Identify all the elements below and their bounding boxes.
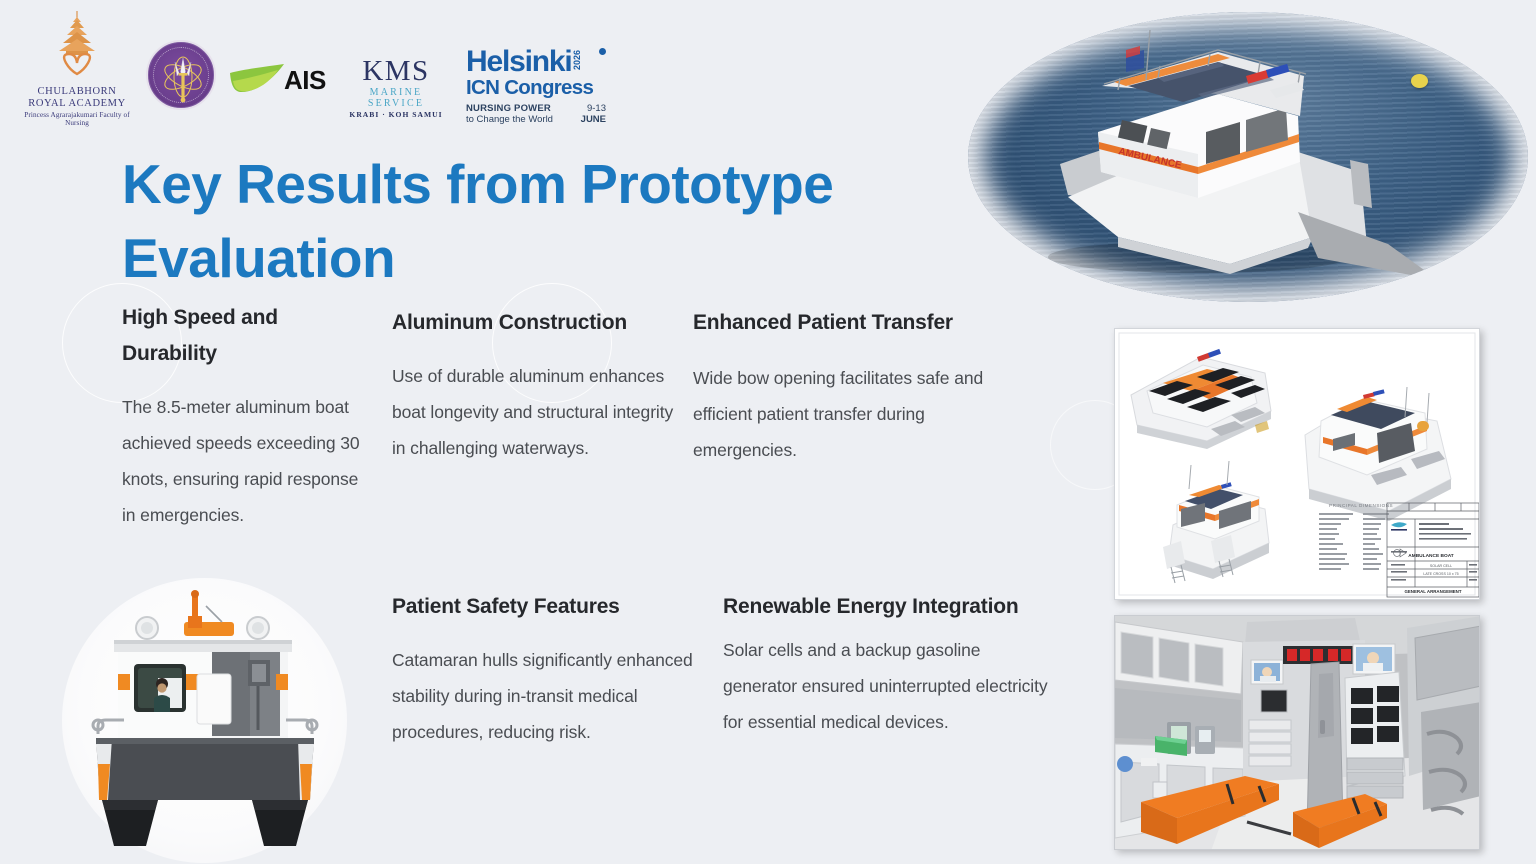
block-body: Catamaran hulls significantly enhanced s… bbox=[392, 643, 697, 751]
result-block-high-speed: High Speed and Durability The 8.5-meter … bbox=[122, 300, 372, 534]
icn-city: Helsinki bbox=[466, 48, 571, 76]
principal-dimensions-label: PRINCIPAL DIMENSIONS bbox=[1329, 503, 1393, 508]
icn-congress-name: ICN Congress bbox=[466, 77, 606, 99]
icn-month: JUNE bbox=[581, 114, 606, 125]
chulabhorn-line1: CHULABHORN bbox=[14, 86, 140, 98]
chulabhorn-line3: Princess Agrarajakumari Faculty of Nursi… bbox=[14, 111, 140, 127]
block-body: Wide bow opening facilitates safe and ef… bbox=[693, 361, 1023, 469]
block-body: Solar cells and a backup gasoline genera… bbox=[723, 633, 1053, 741]
chulabhorn-line2: ROYAL ACADEMY bbox=[14, 98, 140, 110]
chulabhorn-royal-academy-logo: CHULABHORN ROYAL ACADEMY Princess Agrara… bbox=[14, 8, 140, 127]
drawing-subtitle: GENERAL ARRANGEMENT bbox=[1404, 589, 1461, 594]
university-seal-logo bbox=[146, 40, 216, 110]
block-heading: Renewable Energy Integration bbox=[723, 589, 1053, 625]
ais-swoosh-icon bbox=[228, 60, 288, 100]
result-block-patient-transfer: Enhanced Patient Transfer Wide bow openi… bbox=[693, 305, 1023, 469]
ais-logo: AIS bbox=[228, 52, 336, 108]
block-body: The 8.5-meter aluminum boat achieved spe… bbox=[122, 390, 372, 534]
result-block-aluminum: Aluminum Construction Use of durable alu… bbox=[392, 305, 684, 467]
block-body: Use of durable aluminum enhances boat lo… bbox=[392, 359, 684, 467]
icn-tagline-2: to Change the World bbox=[466, 114, 553, 125]
hero-ambulance-boat-on-water: AMBULANCE bbox=[968, 12, 1528, 302]
kms-subtitle: MARINE SERVICE bbox=[348, 87, 444, 109]
interior-cabin-render bbox=[1114, 615, 1480, 850]
general-arrangement-drawing-sheet: PRINCIPAL DIMENSIONS bbox=[1114, 328, 1480, 600]
svg-text:LATE CROSS 10 x 75: LATE CROSS 10 x 75 bbox=[1423, 572, 1458, 576]
thai-crown-emblem-icon bbox=[14, 8, 140, 86]
logo-bar: CHULABHORN ROYAL ACADEMY Princess Agrara… bbox=[0, 0, 640, 140]
slide-canvas: CHULABHORN ROYAL ACADEMY Princess Agrara… bbox=[0, 0, 1536, 864]
kms-marine-service-logo: KMS MARINE SERVICE KRABI · KOH SAMUI bbox=[348, 56, 444, 119]
result-block-renewable-energy: Renewable Energy Integration Solar cells… bbox=[723, 589, 1053, 741]
block-heading: High Speed and Durability bbox=[122, 300, 372, 372]
slide-title: Key Results from Prototype Evaluation bbox=[122, 148, 942, 295]
svg-text:SOLAR CELL: SOLAR CELL bbox=[1430, 564, 1452, 568]
kms-locations: KRABI · KOH SAMUI bbox=[348, 110, 444, 119]
icn-dot-icon bbox=[599, 48, 606, 55]
icn-congress-helsinki-logo: Helsinki 2026 ICN Congress NURSING POWER… bbox=[466, 48, 606, 125]
block-heading: Patient Safety Features bbox=[392, 589, 697, 625]
icn-tagline-1: NURSING POWER bbox=[466, 103, 553, 114]
ais-wordmark: AIS bbox=[284, 65, 326, 96]
kms-wordmark: KMS bbox=[348, 56, 444, 86]
front-view-boat-render bbox=[62, 578, 382, 863]
block-heading: Enhanced Patient Transfer bbox=[693, 305, 1023, 341]
icn-year: 2026 bbox=[572, 50, 582, 70]
icn-dates: 9-13 bbox=[581, 103, 606, 114]
block-heading: Aluminum Construction bbox=[392, 305, 684, 341]
drawing-title: AMBULANCE BOAT bbox=[1408, 553, 1454, 559]
result-block-patient-safety: Patient Safety Features Catamaran hulls … bbox=[392, 589, 697, 751]
